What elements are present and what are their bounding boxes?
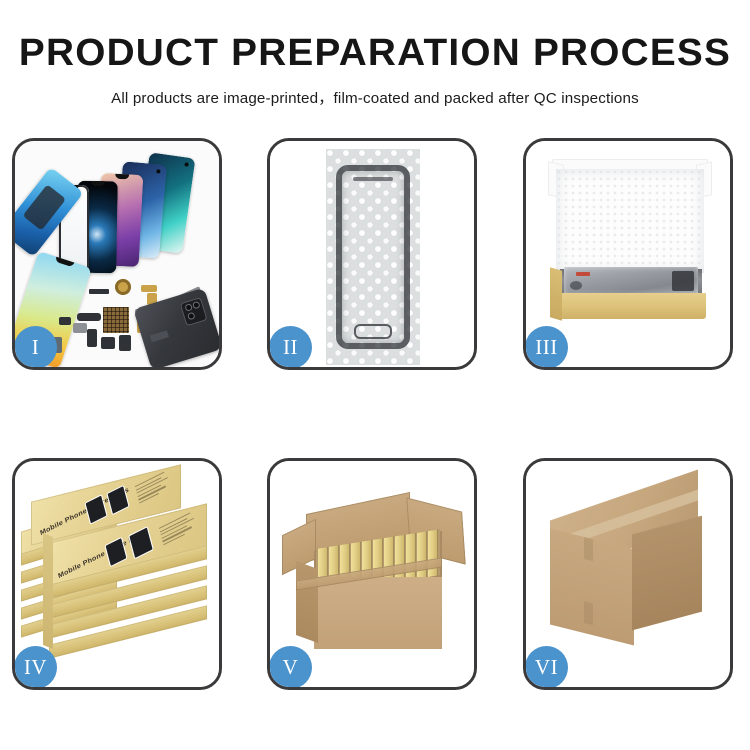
process-step-panel-4: Mobile Phone Spare Parts Mobile Phone Sp… bbox=[12, 458, 222, 690]
carton-seam bbox=[584, 601, 593, 625]
component-camera-module bbox=[119, 335, 131, 351]
process-step-panel-5: V bbox=[267, 458, 477, 690]
component-bracket bbox=[77, 313, 101, 321]
process-step-panel-2: II bbox=[267, 138, 477, 370]
component-bracket bbox=[73, 323, 87, 333]
process-step-panel-3: III bbox=[523, 138, 733, 370]
component-chip-array bbox=[103, 307, 129, 333]
home-button-icon bbox=[354, 324, 392, 339]
box-tray-front bbox=[556, 293, 706, 319]
carton-left-face bbox=[296, 561, 318, 643]
product-end-cap bbox=[672, 271, 694, 291]
carton-right-face bbox=[632, 516, 702, 631]
component-speaker bbox=[115, 279, 131, 295]
step-2-image: II bbox=[270, 141, 474, 367]
packed-product bbox=[564, 267, 698, 295]
carton-front-face bbox=[314, 577, 442, 649]
step-badge-2: II bbox=[270, 326, 312, 367]
step-5-image: V bbox=[270, 461, 474, 687]
box-thumbnail bbox=[128, 526, 154, 559]
step-badge-1: I bbox=[15, 326, 57, 367]
component-button bbox=[101, 337, 115, 349]
page-subtitle: All products are image-printed，film-coat… bbox=[0, 75, 750, 108]
component-cable bbox=[87, 329, 97, 347]
step-4-image: Mobile Phone Spare Parts Mobile Phone Sp… bbox=[15, 461, 219, 687]
process-step-panel-1: I bbox=[12, 138, 222, 370]
process-step-panel-6: VI bbox=[523, 458, 733, 690]
step-badge-6: VI bbox=[526, 646, 568, 687]
notch-icon bbox=[91, 181, 105, 186]
page-header: PRODUCT PREPARATION PROCESS All products… bbox=[0, 0, 750, 108]
foam-padding bbox=[556, 169, 704, 273]
box-spec-lines bbox=[135, 470, 173, 506]
step-1-image: I bbox=[15, 141, 219, 367]
step-badge-3: III bbox=[526, 326, 568, 367]
page-title: PRODUCT PREPARATION PROCESS bbox=[0, 0, 750, 75]
earpiece-icon bbox=[353, 177, 393, 181]
process-step-grid: I II bbox=[12, 138, 738, 690]
product-sticker bbox=[576, 272, 590, 276]
step-badge-5: V bbox=[270, 646, 312, 687]
step-6-image: VI bbox=[526, 461, 730, 687]
box-spec-lines bbox=[159, 511, 199, 548]
wrapped-screen bbox=[336, 165, 410, 349]
product-highlight bbox=[570, 281, 582, 290]
component-flex-cable bbox=[141, 285, 157, 292]
step-badge-4: IV bbox=[15, 646, 57, 687]
box-tray-left bbox=[550, 267, 562, 320]
component-connector bbox=[89, 289, 109, 294]
component-bracket bbox=[59, 317, 71, 325]
bubble-wrap-sheet bbox=[326, 149, 420, 365]
carton-seam bbox=[584, 537, 593, 561]
step-3-image: III bbox=[526, 141, 730, 367]
box-stack-side bbox=[43, 533, 53, 649]
